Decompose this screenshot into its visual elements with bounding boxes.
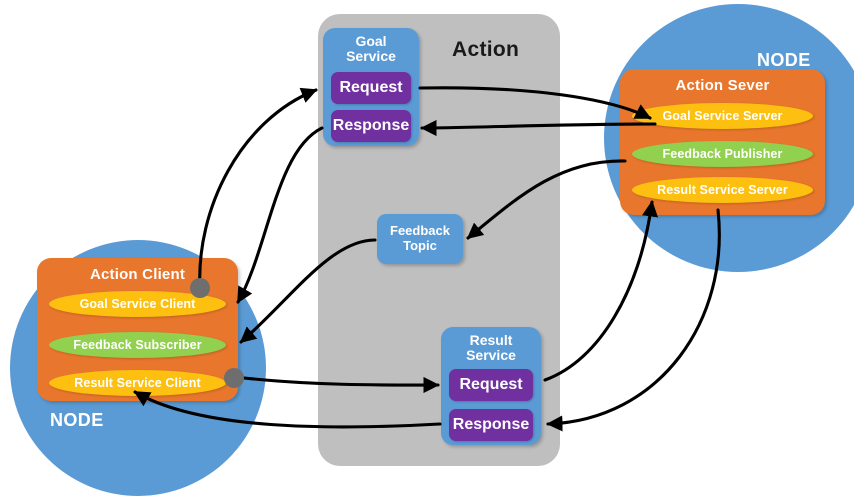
action-client-box: Action Client Goal Service Client Feedba… [37,258,238,401]
feedback-topic-title: Feedback Topic [390,224,450,254]
result-service-title-line1: Result [470,332,513,348]
result-service-client-connector-dot [224,368,244,388]
result-service-client-pill[interactable]: Result Service Client [49,370,226,396]
goal-service-client-connector-dot [190,278,210,298]
result-service-response[interactable]: Response [449,409,533,441]
result-service-title-line2: Service [466,347,516,363]
client-node-label: NODE [50,410,104,431]
feedback-subscriber-pill[interactable]: Feedback Subscriber [49,332,226,358]
action-group-title: Action [452,38,519,62]
feedback-topic-title-line2: Topic [403,238,437,253]
action-server-title: Action Sever [620,69,825,94]
feedback-topic-box: Feedback Topic [377,214,463,264]
goal-service-response[interactable]: Response [331,110,411,142]
result-service-title: Result Service [441,327,541,363]
goal-service-box: Goal Service Request Response [323,28,419,146]
goal-service-title: Goal Service [323,28,419,64]
goal-service-title-line2: Service [346,48,396,64]
arrow-goal-response-to-client [238,128,322,302]
arrow-result-request-to-server [545,202,652,380]
result-service-server-pill[interactable]: Result Service Server [632,177,813,203]
diagram-canvas: Action Goal Service Request Response Fee… [0,0,854,480]
server-node-label: NODE [757,50,811,71]
feedback-publisher-pill[interactable]: Feedback Publisher [632,141,813,167]
goal-service-request[interactable]: Request [331,72,411,104]
result-service-request[interactable]: Request [449,369,533,401]
goal-service-title-line1: Goal [355,33,386,49]
goal-service-server-pill[interactable]: Goal Service Server [632,103,813,129]
action-server-box: Action Sever Goal Service Server Feedbac… [620,69,825,215]
action-client-title: Action Client [37,258,238,283]
feedback-topic-title-line1: Feedback [390,223,450,238]
result-service-box: Result Service Request Response [441,327,541,445]
